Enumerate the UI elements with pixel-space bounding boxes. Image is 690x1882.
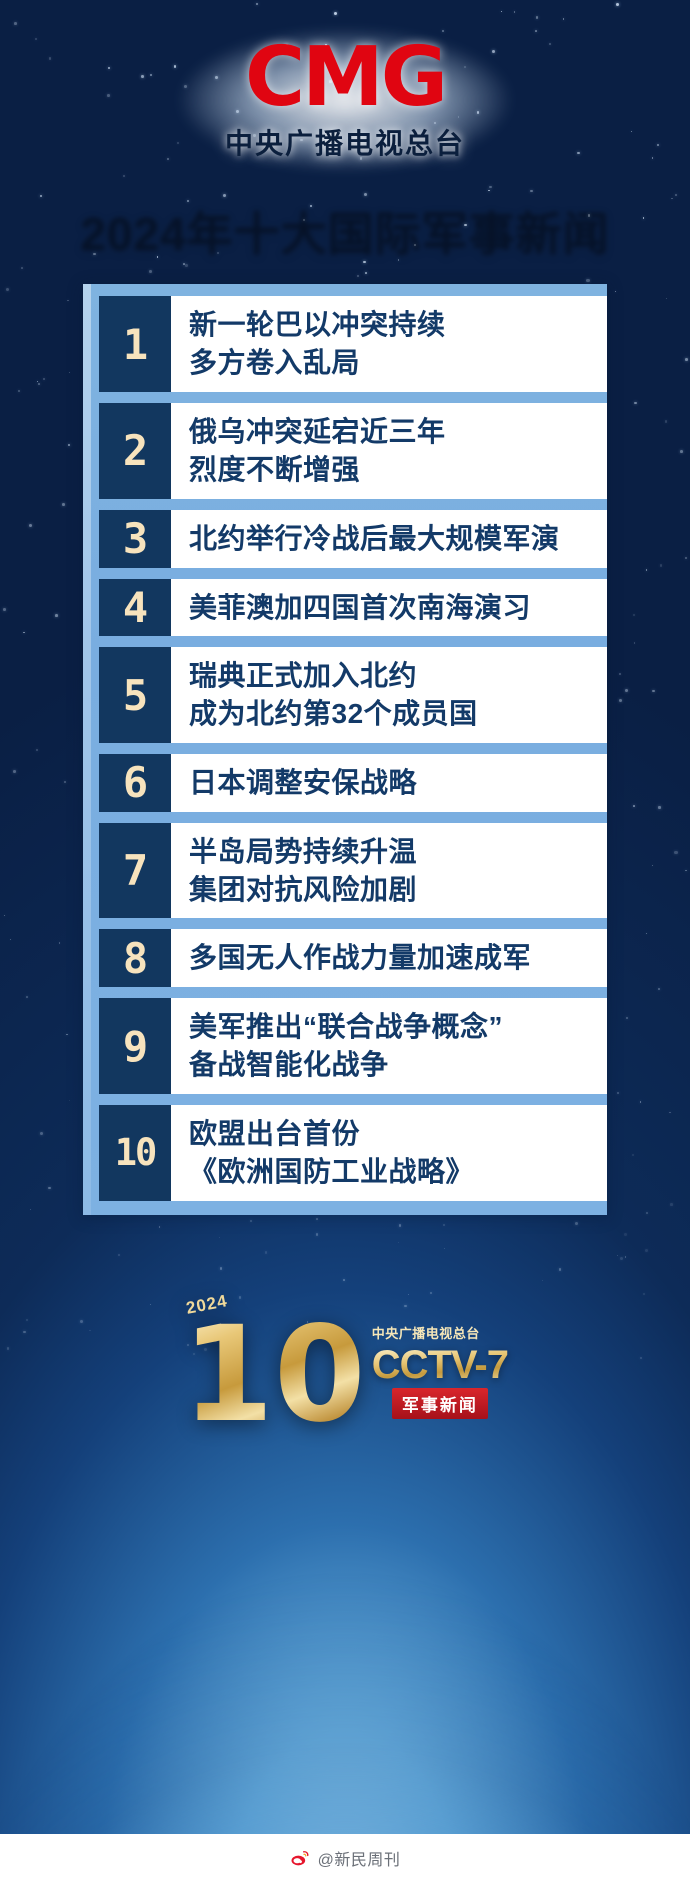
news-item-text: 欧盟出台首份《欧洲国防工业战略》: [171, 1105, 607, 1201]
news-item-number: 8: [99, 929, 171, 987]
news-item-number: 10: [99, 1105, 171, 1201]
news-item-line: 北约举行冷战后最大规模军演: [189, 521, 597, 557]
news-item-line: 集团对抗风险加剧: [189, 872, 597, 908]
news-item-line: 多国无人作战力量加速成军: [189, 940, 597, 976]
news-item-row[interactable]: 4美菲澳加四国首次南海演习: [99, 579, 607, 637]
news-item-number: 2: [99, 403, 171, 499]
news-item-row[interactable]: 9美军推出“联合战争概念”备战智能化战争: [99, 998, 607, 1094]
news-item-text: 美菲澳加四国首次南海演习: [171, 579, 607, 637]
credit-account: @新民周刊: [318, 1846, 401, 1870]
news-item-number: 3: [99, 510, 171, 568]
news-item-line: 烈度不断增强: [189, 452, 597, 488]
emblem-channel-label: CCTV-7: [372, 1345, 508, 1385]
news-item-line: 半岛局势持续升温: [189, 834, 597, 870]
news-item-row[interactable]: 7半岛局势持续升温集团对抗风险加剧: [99, 823, 607, 919]
news-item-number: 6: [99, 754, 171, 812]
news-item-line: 俄乌冲突延宕近三年: [189, 414, 597, 450]
news-item-row[interactable]: 3北约举行冷战后最大规模军演: [99, 510, 607, 568]
news-item-row[interactable]: 6日本调整安保战略: [99, 754, 607, 812]
cmg-logo-text: CMG: [225, 38, 465, 118]
header: CMG 中央广播电视总台: [0, 0, 690, 162]
news-item-line: 新一轮巴以冲突持续: [189, 307, 597, 343]
news-item-text: 瑞典正式加入北约成为北约第32个成员国: [171, 647, 607, 743]
news-item-number: 5: [99, 647, 171, 743]
news-item-row[interactable]: 8多国无人作战力量加速成军: [99, 929, 607, 987]
cmg-logo-subtitle: 中央广播电视总台: [225, 122, 465, 162]
news-item-line: 《欧洲国防工业战略》: [189, 1154, 597, 1190]
news-item-line: 瑞典正式加入北约: [189, 658, 597, 694]
news-item-line: 美军推出“联合战争概念”: [189, 1009, 597, 1045]
infographic-page: CMG 中央广播电视总台 2024年十大国际军事新闻 1新一轮巴以冲突持续多方卷…: [0, 0, 690, 1882]
news-list-panel: 1新一轮巴以冲突持续多方卷入乱局2俄乌冲突延宕近三年烈度不断增强3北约举行冷战后…: [83, 284, 607, 1214]
news-item-line: 欧盟出台首份: [189, 1116, 597, 1152]
news-item-text: 多国无人作战力量加速成军: [171, 929, 607, 987]
news-item-row[interactable]: 1新一轮巴以冲突持续多方卷入乱局: [99, 296, 607, 392]
news-item-text: 半岛局势持续升温集团对抗风险加剧: [171, 823, 607, 919]
news-item-row[interactable]: 5瑞典正式加入北约成为北约第32个成员国: [99, 647, 607, 743]
page-title: 2024年十大国际军事新闻: [0, 196, 690, 262]
news-item-text: 新一轮巴以冲突持续多方卷入乱局: [171, 296, 607, 392]
news-item-text: 美军推出“联合战争概念”备战智能化战争: [171, 998, 607, 1094]
news-item-line: 日本调整安保战略: [189, 765, 597, 801]
news-item-line: 成为北约第32个成员国: [189, 696, 597, 732]
cmg-logo-group: CMG 中央广播电视总台: [225, 38, 465, 162]
emblem-number-text: 10: [182, 1309, 366, 1441]
credit-bar: @新民周刊: [0, 1834, 690, 1882]
news-item-text: 俄乌冲突延宕近三年烈度不断增强: [171, 403, 607, 499]
footer-emblem: 2024 10 中央广播电视总台 CCTV-7 军事新闻: [0, 1245, 690, 1505]
news-item-text: 北约举行冷战后最大规模军演: [171, 510, 607, 568]
news-item-number: 7: [99, 823, 171, 919]
news-item-line: 多方卷入乱局: [189, 345, 597, 381]
weibo-icon: [290, 1848, 310, 1868]
news-item-row[interactable]: 10欧盟出台首份《欧洲国防工业战略》: [99, 1105, 607, 1201]
emblem-program-badge: 军事新闻: [392, 1388, 488, 1419]
emblem-text-group: 中央广播电视总台 CCTV-7 军事新闻: [372, 1323, 508, 1427]
news-item-number: 4: [99, 579, 171, 637]
news-item-number: 9: [99, 998, 171, 1094]
news-item-row[interactable]: 2俄乌冲突延宕近三年烈度不断增强: [99, 403, 607, 499]
emblem-number-10: 2024 10: [182, 1309, 366, 1441]
news-item-line: 备战智能化战争: [189, 1047, 597, 1083]
emblem-org-label: 中央广播电视总台: [372, 1323, 508, 1342]
news-item-line: 美菲澳加四国首次南海演习: [189, 590, 597, 626]
news-item-number: 1: [99, 296, 171, 392]
news-item-text: 日本调整安保战略: [171, 754, 607, 812]
